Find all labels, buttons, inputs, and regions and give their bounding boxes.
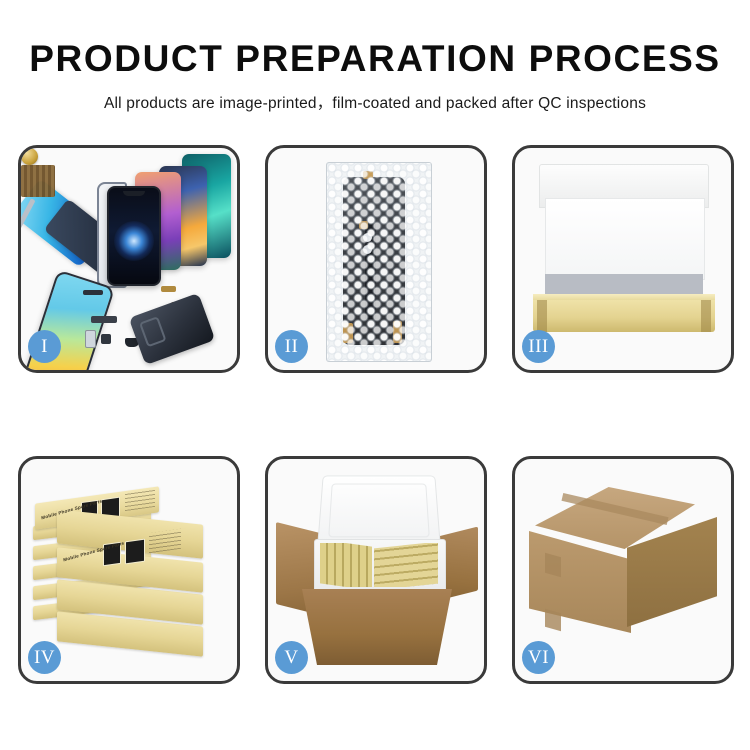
nebula-wallpaper [114,221,154,261]
part-chip [85,330,96,348]
carton-tape-mark [545,553,561,578]
step-panel-5[interactable]: V [265,456,487,684]
phone-black-nebula [107,186,161,286]
step-badge-2: II [275,330,308,363]
foam-sheet [545,198,705,280]
box-screen-image [125,539,145,565]
carton-body [302,589,452,665]
box-front-panel [533,300,715,332]
step-badge-3: III [522,330,555,363]
phone-chassis-back [129,293,216,365]
box-stack: Mobile Phone Spare Parts Mobile Phone Sp… [29,477,233,667]
step-panel-4[interactable]: Mobile Phone Spare Parts Mobile Phone Sp… [18,456,240,684]
bubble-bag [326,162,432,362]
screw-grid-part [21,165,55,197]
process-grid: I II [18,145,734,684]
phone-notch [123,191,145,196]
page-root: PRODUCT PREPARATION PROCESS All products… [0,0,750,750]
page-subtitle: All products are image-printed，film-coat… [0,77,750,113]
part-chip [161,286,176,292]
step-badge-6: VI [522,641,555,674]
page-title: PRODUCT PREPARATION PROCESS [0,0,750,77]
step-badge-5: V [275,641,308,674]
step-badge-4: IV [28,641,61,674]
process-row-1: I II [18,145,734,373]
carton-tape-mark [545,609,561,632]
step-panel-3[interactable]: III [512,145,734,373]
speaker-part-icon [21,148,38,165]
bubble-wrap-texture [327,163,431,361]
retail-box-group [374,543,438,587]
part-chip [91,316,117,323]
step-panel-6[interactable]: VI [512,456,734,684]
part-chip [101,334,111,344]
part-chip [83,290,103,295]
process-row-2: Mobile Phone Spare Parts Mobile Phone Sp… [18,456,734,684]
step-panel-1[interactable]: I [18,145,240,373]
header: PRODUCT PREPARATION PROCESS All products… [0,0,750,113]
step-badge-1: I [28,330,61,363]
retail-box-group [320,543,372,587]
foam-lid [317,475,441,548]
packed-retail-boxes [320,543,438,587]
step-panel-2[interactable]: II [265,145,487,373]
